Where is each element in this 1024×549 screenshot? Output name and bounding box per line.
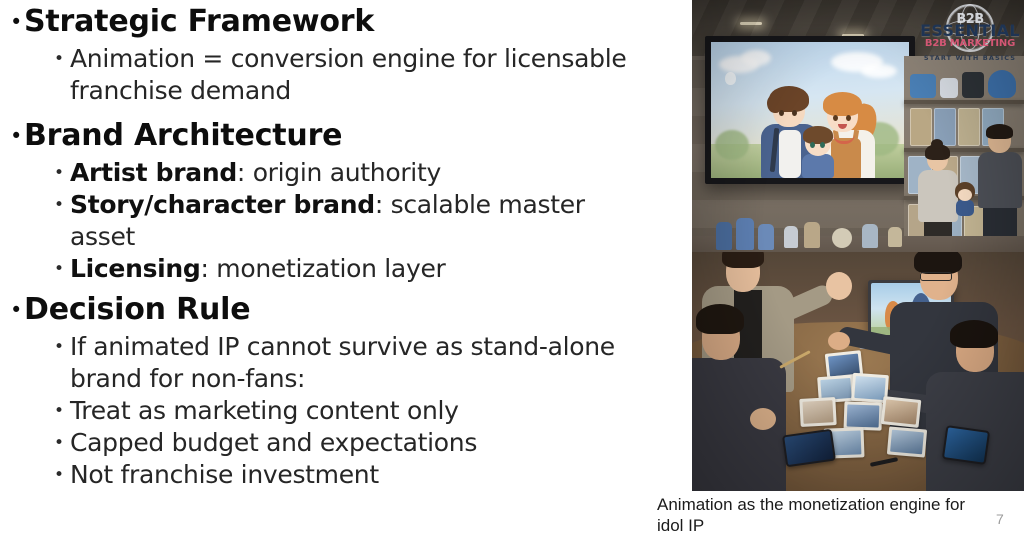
list-item-text: Story/character brand: scalable master a… — [70, 189, 642, 253]
list-item-text: Brand Architecture — [24, 116, 654, 156]
bullet-marker-icon: • — [54, 459, 70, 484]
list-item: • Treat as marketing content only — [54, 395, 654, 427]
slide-illustration: B2B ESSENTIAL B2B MARKETING START WITH B… — [692, 0, 1024, 491]
character-eye — [792, 110, 797, 116]
shelf-board — [904, 100, 1024, 104]
card-thumbnail — [854, 376, 885, 400]
attendee-hand — [750, 408, 776, 430]
card-thumbnail — [847, 404, 880, 427]
list-item-emphasis: Artist brand — [70, 158, 237, 187]
character-eye — [833, 115, 838, 121]
figure-caption: Animation as the monetization engine for… — [657, 494, 977, 536]
presenter-hair — [722, 252, 764, 268]
framed-anime-poster — [705, 36, 915, 184]
card-thumbnail — [890, 430, 924, 455]
character-eye — [846, 115, 851, 121]
counter-figurine — [888, 227, 902, 247]
plush-toy — [910, 74, 936, 98]
poster-cloud — [741, 50, 771, 66]
poster-balloon — [725, 72, 736, 85]
slide-canvas: • Strategic Framework • Animation = conv… — [0, 0, 1024, 549]
character-eye — [820, 142, 825, 148]
bullet-marker-icon: • — [54, 427, 70, 452]
list-item: • Not franchise investment — [54, 459, 654, 491]
character-eye — [779, 110, 784, 116]
bullet-marker-icon: • — [54, 395, 70, 420]
card-thumbnail — [802, 400, 833, 424]
counter-figurine — [804, 222, 820, 248]
list-item-text: Decision Rule — [24, 290, 654, 330]
figure-body — [956, 200, 974, 216]
list-item-emphasis: Story/character brand — [70, 190, 375, 219]
attendee-left — [692, 300, 786, 491]
list-item: • Artist brand: origin authority — [54, 157, 654, 189]
character-hair — [803, 126, 833, 144]
storyboard-card — [887, 426, 927, 457]
list-item: • If animated IP cannot survive as stand… — [54, 331, 654, 395]
counter-figurine — [862, 224, 878, 248]
list-item: • Story/character brand: scalable master… — [54, 189, 654, 253]
shopper-body — [918, 170, 958, 222]
list-item: • Brand Architecture — [10, 116, 654, 156]
list-item-emphasis: Licensing — [70, 254, 201, 283]
poster-mascot-character — [797, 128, 839, 178]
eyeglasses-icon — [920, 272, 952, 281]
illustration-artwork: B2B ESSENTIAL B2B MARKETING START WITH B… — [692, 0, 1024, 491]
poster-cloud — [861, 64, 897, 78]
list-item: • Capped budget and expectations — [54, 427, 654, 459]
bullet-marker-icon: • — [10, 2, 24, 33]
card-thumbnail — [884, 399, 918, 424]
presenter-hand — [826, 272, 852, 300]
list-item-text: Artist brand: origin authority — [70, 157, 642, 189]
bullet-marker-icon: • — [10, 290, 24, 321]
list-item: • Licensing: monetization layer — [54, 253, 654, 285]
phone-screen — [944, 427, 988, 462]
bullet-marker-icon: • — [10, 116, 24, 147]
poster-tree — [715, 130, 749, 160]
phone-device — [942, 425, 990, 465]
watermark-logo: B2B ESSENTIAL B2B MARKETING START WITH B… — [920, 4, 1020, 64]
shopper-hair-bun — [931, 139, 943, 149]
meeting-scene — [692, 252, 1024, 491]
logo-secondary-text: B2B MARKETING — [920, 38, 1020, 49]
storyboard-card — [844, 401, 883, 430]
bullet-marker-icon: • — [54, 43, 70, 68]
boxed-product — [958, 108, 980, 146]
list-item-text: Capped budget and expectations — [70, 427, 642, 459]
attendee-hand — [828, 332, 850, 350]
counter-figurine — [832, 228, 852, 248]
character-body — [802, 154, 834, 178]
figure-face — [958, 189, 972, 201]
counter-figurine — [736, 218, 754, 250]
list-item: • Strategic Framework — [10, 2, 654, 42]
character-eye — [810, 142, 815, 148]
attendee-right-lower — [926, 318, 1024, 491]
list-item: • Animation = conversion engine for lice… — [54, 43, 654, 107]
tablet-screen — [784, 431, 833, 465]
logo-primary-text: ESSENTIAL — [920, 23, 1020, 39]
list-item-text: Licensing: monetization layer — [70, 253, 642, 285]
spacer — [10, 107, 654, 116]
bullet-marker-icon: • — [54, 157, 70, 182]
logo-tagline-text: START WITH BASICS — [920, 54, 1020, 62]
page-number: 7 — [996, 511, 1004, 527]
storyboard-card — [799, 397, 836, 427]
shopper-body — [978, 152, 1022, 208]
bullet-content-area: • Strategic Framework • Animation = conv… — [0, 0, 660, 549]
poster-artwork — [711, 42, 909, 178]
list-item-rest: : origin authority — [237, 158, 441, 187]
figure-toy — [962, 72, 984, 98]
shopper-hair — [986, 124, 1013, 139]
bullet-marker-icon: • — [54, 189, 70, 214]
attendee-hair — [696, 304, 744, 334]
list-item-text: Animation = conversion engine for licens… — [70, 43, 642, 107]
boxed-product — [910, 108, 932, 146]
figure-toy — [940, 78, 958, 98]
bullet-marker-icon: • — [54, 331, 70, 356]
attendee-hair — [950, 320, 998, 348]
figure-toy — [988, 70, 1016, 98]
list-item-text: If animated IP cannot survive as stand-a… — [70, 331, 642, 395]
bullet-marker-icon: • — [54, 253, 70, 278]
list-item-text: Treat as marketing content only — [70, 395, 642, 427]
list-item-rest: : monetization layer — [201, 254, 446, 283]
handheld-character-figure — [954, 182, 976, 216]
list-item-text: Not franchise investment — [70, 459, 642, 491]
character-hair — [823, 92, 862, 116]
counter-figurine — [758, 224, 774, 250]
counter-figurine — [784, 226, 798, 248]
storyboard-card — [881, 396, 922, 428]
attendee-hair — [914, 252, 962, 274]
list-item-text: Strategic Framework — [24, 2, 654, 42]
character-hair — [769, 86, 809, 112]
list-item: • Decision Rule — [10, 290, 654, 330]
counter-figurine — [716, 222, 732, 250]
